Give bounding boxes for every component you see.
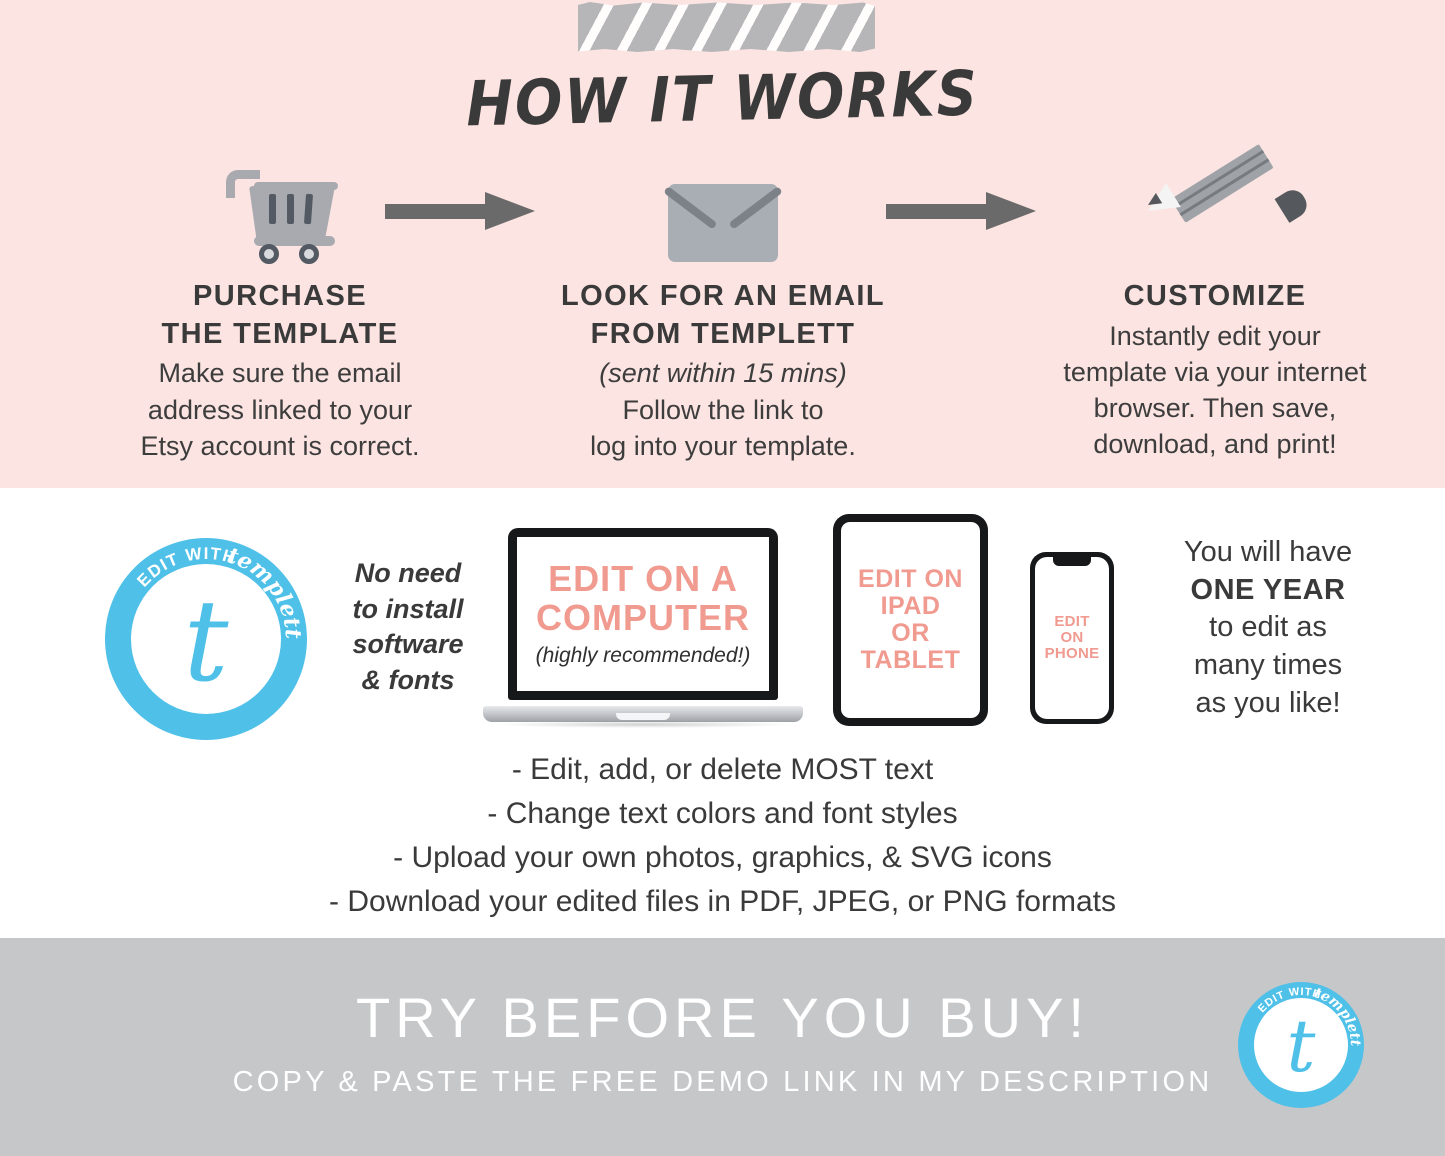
feature-item-2: - Change text colors and font styles <box>0 792 1445 836</box>
pencil-icon <box>1150 157 1280 262</box>
tablet-line2: IPAD <box>858 593 963 620</box>
one-year-text: You will have ONE YEAR to edit as many t… <box>1122 534 1414 722</box>
washi-tape-icon <box>578 2 875 52</box>
step-1-heading: PURCHASE THE TEMPLATE <box>88 278 472 353</box>
feature-item-4: - Download your edited files in PDF, JPE… <box>0 880 1445 924</box>
step-3-heading: CUSTOMIZE <box>1000 278 1430 316</box>
step-1-body-line3: Etsy account is correct. <box>88 428 472 464</box>
tablet-device: EDIT ON IPAD OR TABLET <box>833 514 988 726</box>
phone-screen: EDIT ON PHONE <box>1035 557 1109 719</box>
laptop-shadow <box>495 721 791 728</box>
one-year-line5: as you like! <box>1122 685 1414 723</box>
step-2-heading-line2: FROM TEMPLETT <box>528 316 918 354</box>
laptop-device: EDIT ON A COMPUTER (highly recommended!) <box>483 528 803 728</box>
templett-badge-arc-text-small: EDIT WITH templett EDITABLE TEMPLATE <box>1238 982 1364 1108</box>
svg-text:templett: templett <box>224 542 306 639</box>
step-2-heading: LOOK FOR AN EMAIL FROM TEMPLETT <box>528 278 918 353</box>
step-3-body-line3: browser. Then save, <box>1000 390 1430 426</box>
one-year-emphasis: ONE YEAR <box>1191 574 1346 606</box>
page-title: HOW IT WORKS <box>0 47 1445 150</box>
tablet-line1: EDIT ON <box>858 566 963 593</box>
step-3-body-line1: Instantly edit your <box>1000 318 1430 354</box>
feature-item-3: - Upload your own photos, graphics, & SV… <box>0 836 1445 880</box>
step-2-italic-note: (sent within 15 mins) <box>528 355 918 391</box>
laptop-notch <box>616 713 670 720</box>
envelope-icon <box>668 184 778 262</box>
banner-title: TRY BEFORE YOU BUY! <box>0 985 1445 1050</box>
step-purchase: PURCHASE THE TEMPLATE Make sure the emai… <box>88 150 472 464</box>
no-install-line1: No need <box>328 556 488 592</box>
phone-title: EDIT ON PHONE <box>1045 614 1100 663</box>
phone-line3: PHONE <box>1045 646 1100 662</box>
phone-line1: EDIT <box>1045 614 1100 630</box>
tablet-line4: TABLET <box>858 647 963 674</box>
phone-notch <box>1053 557 1091 566</box>
tablet-line3: OR <box>858 620 963 647</box>
shopping-cart-icon <box>221 162 339 262</box>
step-1-heading-line2: THE TEMPLATE <box>88 316 472 354</box>
step-3-heading-line1: CUSTOMIZE <box>1000 278 1430 316</box>
laptop-title: EDIT ON A COMPUTER <box>536 560 750 638</box>
one-year-line3: to edit as <box>1122 609 1414 647</box>
features-list: - Edit, add, or delete MOST text - Chang… <box>0 748 1445 924</box>
step-2-body-line2: log into your template. <box>528 428 918 464</box>
step-2-body-line1: Follow the link to <box>528 392 918 428</box>
infographic-page: HOW IT WORKS PURCHASE THE TEMPLATE Make <box>0 0 1445 1156</box>
step-1-body-line1: Make sure the email <box>88 355 472 391</box>
templett-badge-small: t EDIT WITH templett EDITABLE TEMPLATE <box>1238 982 1364 1108</box>
banner-subtitle: COPY & PASTE THE FREE DEMO LINK IN MY DE… <box>0 1066 1445 1099</box>
no-install-line2: to install <box>328 592 488 628</box>
laptop-subtitle: (highly recommended!) <box>536 644 751 668</box>
laptop-title-line1: EDIT ON A <box>536 560 750 599</box>
svg-text:EDITABLE TEMPLATE: EDITABLE TEMPLATE <box>1256 1051 1349 1094</box>
templett-badge-arc-text-large: EDIT WITH templett EDITABLE TEMPLATE <box>105 538 307 740</box>
laptop-title-line2: COMPUTER <box>536 599 750 638</box>
tablet-screen: EDIT ON IPAD OR TABLET <box>841 522 980 718</box>
one-year-line1: You will have <box>1122 534 1414 572</box>
laptop-screen: EDIT ON A COMPUTER (highly recommended!) <box>517 537 769 691</box>
step-email: LOOK FOR AN EMAIL FROM TEMPLETT (sent wi… <box>528 150 918 464</box>
step-3-body-line2: template via your internet <box>1000 354 1430 390</box>
no-install-text: No need to install software & fonts <box>328 556 488 699</box>
phone-device: EDIT ON PHONE <box>1030 552 1114 724</box>
step-1-body-line2: address linked to your <box>88 392 472 428</box>
no-install-line4: & fonts <box>328 663 488 699</box>
svg-text:EDITABLE TEMPLATE: EDITABLE TEMPLATE <box>134 649 283 717</box>
phone-line2: ON <box>1045 630 1100 646</box>
step-1-body: Make sure the email address linked to yo… <box>88 355 472 464</box>
step-3-body-line4: download, and print! <box>1000 426 1430 462</box>
step-3-body: Instantly edit your template via your in… <box>1000 318 1430 463</box>
svg-text:templett: templett <box>1312 985 1363 1047</box>
one-year-line4: many times <box>1122 647 1414 685</box>
step-1-heading-line1: PURCHASE <box>88 278 472 316</box>
step-2-heading-line1: LOOK FOR AN EMAIL <box>528 278 918 316</box>
no-install-line3: software <box>328 627 488 663</box>
feature-item-1: - Edit, add, or delete MOST text <box>0 748 1445 792</box>
svg-text:EDIT WITH: EDIT WITH <box>133 544 238 591</box>
templett-badge-large: t EDIT WITH templett EDITABLE TEMPLATE <box>105 538 307 740</box>
how-it-works-section: HOW IT WORKS PURCHASE THE TEMPLATE Make <box>0 0 1445 488</box>
step-2-body: (sent within 15 mins) Follow the link to… <box>528 355 918 464</box>
tablet-title: EDIT ON IPAD OR TABLET <box>858 566 963 674</box>
step-customize: CUSTOMIZE Instantly edit your template v… <box>1000 150 1430 462</box>
